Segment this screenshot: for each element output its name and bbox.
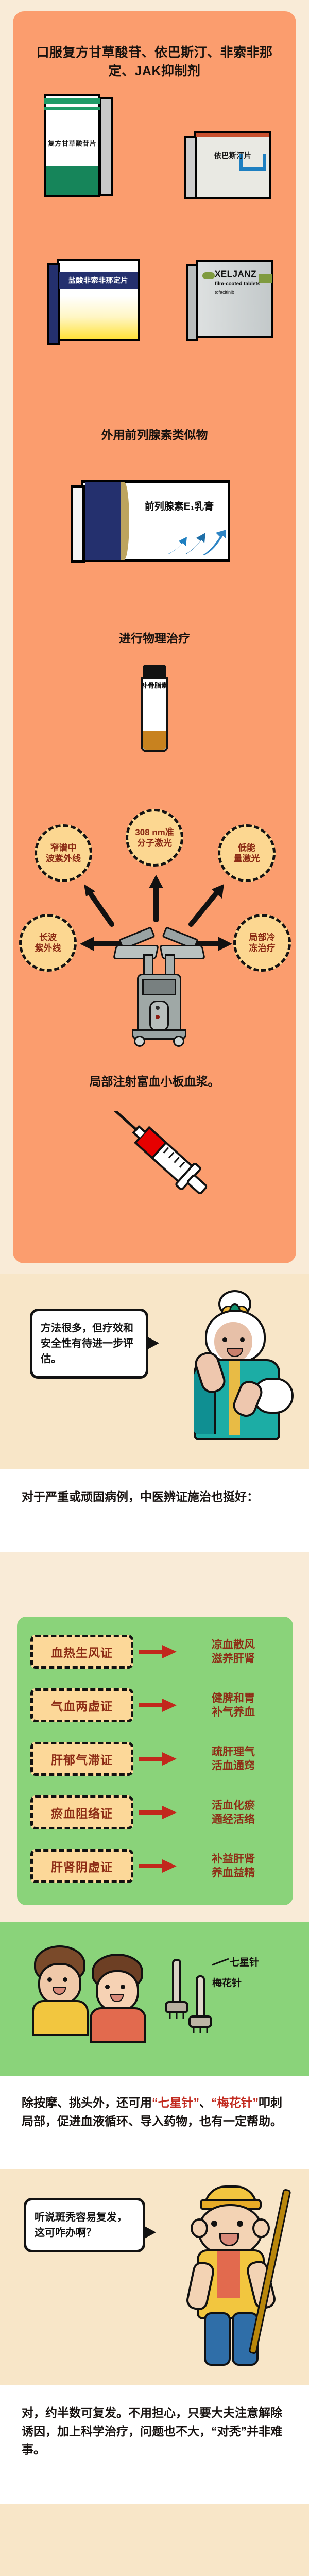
arrow-to-nbuvb-icon — [75, 882, 121, 928]
circle-line: 低能 — [231, 842, 263, 853]
tcm-intro-text: 对于严重或顽固病例，中医辨证施治也挺好： — [0, 1469, 309, 1506]
therapy-circle-308nm-excimer: 308 nm准 分子激光 — [126, 809, 183, 867]
tcm-pattern-tag: 瘀血阻络证 — [30, 1795, 133, 1829]
question-speech-bubble: 听说斑秃容易复发，这可咋办啊？ — [24, 2198, 145, 2252]
question-scene-panel: 听说斑秃容易复发，这可咋办啊？ — [0, 2169, 309, 2385]
table-row: 肝肾阴虚证 补益肝肾 养血益精 — [17, 1841, 293, 1891]
medicine-box-xeljanz: XELJANZ film-coated tablets tofacitinib — [183, 259, 281, 346]
injection-title: 局部注射富血小板血浆。 — [13, 1073, 296, 1091]
phototherapy-machine — [113, 924, 201, 1043]
tcm-treatment-line: 活血通窍 — [183, 1759, 284, 1773]
monkey-character — [170, 2184, 294, 2375]
medicine-box-fufanggancaosuangan: 复方甘草酸苷片 — [35, 94, 112, 202]
needle-text-part: 除按摩、挑头外，还可用 — [22, 2096, 152, 2109]
oral-drugs-title: 口服复方甘草酸苷、依巴斯汀、非索非那定、JAK抑制剂 — [13, 11, 296, 81]
tcm-treatment-line: 健脾和胃 — [183, 1691, 284, 1705]
needle-explanation-text: 除按摩、挑头外，还可用“七星针”、“梅花针”叩刺局部，促进血液循环、导入药物，也… — [0, 2076, 309, 2130]
tcm-treatment-line: 凉血散风 — [183, 1638, 284, 1652]
medicine-box-yansuanfeisuofeinading: 盐酸非索非那定片 — [44, 258, 152, 350]
tcm-treatment: 活血化瘀 通经活络 — [183, 1799, 293, 1827]
medicine-box-label: 盐酸非索非那定片 — [57, 275, 140, 285]
arrow-graphic — [165, 530, 227, 558]
tcm-treatment-line: 通经活络 — [183, 1812, 284, 1826]
needle-text-panel: 除按摩、挑头外，还可用“七星针”、“梅花针”叩刺局部，促进血液循环、导入药物，也… — [0, 2076, 309, 2169]
patient-character-right — [82, 1951, 149, 2038]
circle-line: 量激光 — [231, 853, 263, 864]
tcm-treatment: 凉血散风 滋养肝肾 — [183, 1638, 293, 1666]
circle-line: 分子激光 — [132, 838, 177, 849]
infographic-page: 口服复方甘草酸苷、依巴斯汀、非索非那定、JAK抑制剂 复方甘草酸苷片 依巴斯汀片… — [0, 0, 309, 2576]
therapy-circle-low-energy-laser: 低能 量激光 — [218, 824, 276, 882]
therapy-circle-cryotherapy: 局部冷 冻治疗 — [233, 914, 291, 972]
cream-box-label: 前列腺素E₁乳膏 — [131, 499, 227, 513]
medicine-box-generic: tofacitinib — [215, 290, 271, 295]
therapy-circle-nbuvb: 窄谱中 波紫外线 — [35, 824, 92, 882]
tcm-treatment-line: 滋养肝肾 — [183, 1652, 284, 1666]
table-row: 瘀血阻络证 活血化瘀 通经活络 — [17, 1788, 293, 1837]
circle-line: 308 nm准 — [132, 827, 177, 838]
tcm-treatment-line: 补益肝肾 — [183, 1852, 284, 1866]
answer-text: 对，约半数可复发。不用担心，只要大夫注意解除诱因，加上科学治疗，问题也不大，“对… — [0, 2385, 309, 2459]
tcm-arrow — [133, 1644, 183, 1659]
needle-scene-panel: 七星针 梅花针 — [0, 1922, 309, 2076]
tcm-arrow — [133, 1698, 183, 1713]
psoralen-bottle: 补骨脂素 — [135, 665, 174, 762]
doctor-speech-bubble: 方法很多，但疗效和安全性有待进一步评估。 — [30, 1309, 148, 1379]
arrow-to-low-laser-icon — [188, 882, 234, 928]
tcm-arrow — [133, 1858, 183, 1874]
needle-text-highlight: “梅花针” — [211, 2096, 259, 2109]
tcm-arrow — [133, 1751, 183, 1767]
table-row: 血热生风证 凉血散风 滋养肝肾 — [17, 1627, 293, 1676]
medicine-box-yibasiting: 依巴斯汀片 — [183, 129, 278, 206]
tcm-treatment-line: 疏肝理气 — [183, 1745, 284, 1759]
table-row: 气血两虚证 健脾和胃 补气养血 — [17, 1681, 293, 1730]
circle-line: 长波 — [32, 932, 64, 943]
doctor-panel: 方法很多，但疗效和安全性有待进一步评估。 — [0, 1274, 309, 1469]
answer-panel: 对，约半数可复发。不用担心，只要大夫注意解除诱因，加上科学治疗，问题也不大，“对… — [0, 2385, 309, 2504]
doctor-character — [175, 1290, 294, 1465]
medicine-box-prostaglandin-cream: 前列腺素E₁乳膏 — [70, 474, 239, 567]
circle-line: 窄谱中 — [43, 842, 84, 853]
syringe-icon — [100, 1111, 214, 1209]
oral-drugs-panel: 口服复方甘草酸苷、依巴斯汀、非索非那定、JAK抑制剂 复方甘草酸苷片 依巴斯汀片… — [13, 11, 296, 1263]
seven-star-needle-label: 七星针 — [230, 1955, 259, 1969]
needle-text-highlight: “七星针” — [152, 2096, 199, 2109]
closing-scene-panel — [0, 2504, 309, 2576]
topical-title: 外用前列腺素类似物 — [13, 426, 296, 444]
therapy-circle-uva: 长波 紫外线 — [19, 914, 77, 972]
psoralen-bottle-label: 补骨脂素 — [141, 682, 168, 690]
circle-line: 冻治疗 — [246, 943, 279, 954]
medicine-box-subtitle: film-coated tablets — [215, 281, 271, 287]
tcm-table-panel: 血热生风证 凉血散风 滋养肝肾 气血两虚证 健脾和胃 补气养血 肝郁气滞证 — [17, 1617, 293, 1905]
tcm-pattern-tag: 血热生风证 — [30, 1635, 133, 1669]
tcm-treatment-line: 养血益精 — [183, 1866, 284, 1880]
tcm-treatment-line: 补气养血 — [183, 1705, 284, 1719]
tcm-treatment-line: 活血化瘀 — [183, 1799, 284, 1812]
table-row: 肝郁气滞证 疏肝理气 活血通窍 — [17, 1734, 293, 1784]
pointer-line-seven-star-icon — [212, 1956, 233, 1968]
tcm-pattern-tag: 气血两虚证 — [30, 1688, 133, 1722]
tcm-treatment: 疏肝理气 活血通窍 — [183, 1745, 293, 1773]
arrow-to-excimer-icon — [146, 873, 166, 922]
tcm-treatment: 健脾和胃 补气养血 — [183, 1691, 293, 1720]
physical-therapy-title: 进行物理治疗 — [13, 630, 296, 648]
circle-line: 紫外线 — [32, 943, 64, 954]
medicine-box-label: 复方甘草酸苷片 — [44, 138, 100, 148]
tcm-pattern-tag: 肝肾阴虚证 — [30, 1849, 133, 1883]
patient-character-left — [25, 1942, 92, 2030]
tcm-arrow — [133, 1805, 183, 1820]
needle-text-part: 、 — [199, 2096, 211, 2109]
circle-line: 波紫外线 — [43, 853, 84, 864]
medicine-box-label: XELJANZ — [215, 269, 264, 279]
circle-line: 局部冷 — [246, 932, 279, 943]
plum-blossom-needle-label: 梅花针 — [212, 1975, 242, 1989]
tcm-pattern-tag: 肝郁气滞证 — [30, 1742, 133, 1776]
tcm-intro-panel: 对于严重或顽固病例，中医辨证施治也挺好： — [0, 1469, 309, 1552]
medicine-box-label: 依巴斯汀片 — [194, 150, 271, 161]
tcm-treatment: 补益肝肾 养血益精 — [183, 1852, 293, 1880]
